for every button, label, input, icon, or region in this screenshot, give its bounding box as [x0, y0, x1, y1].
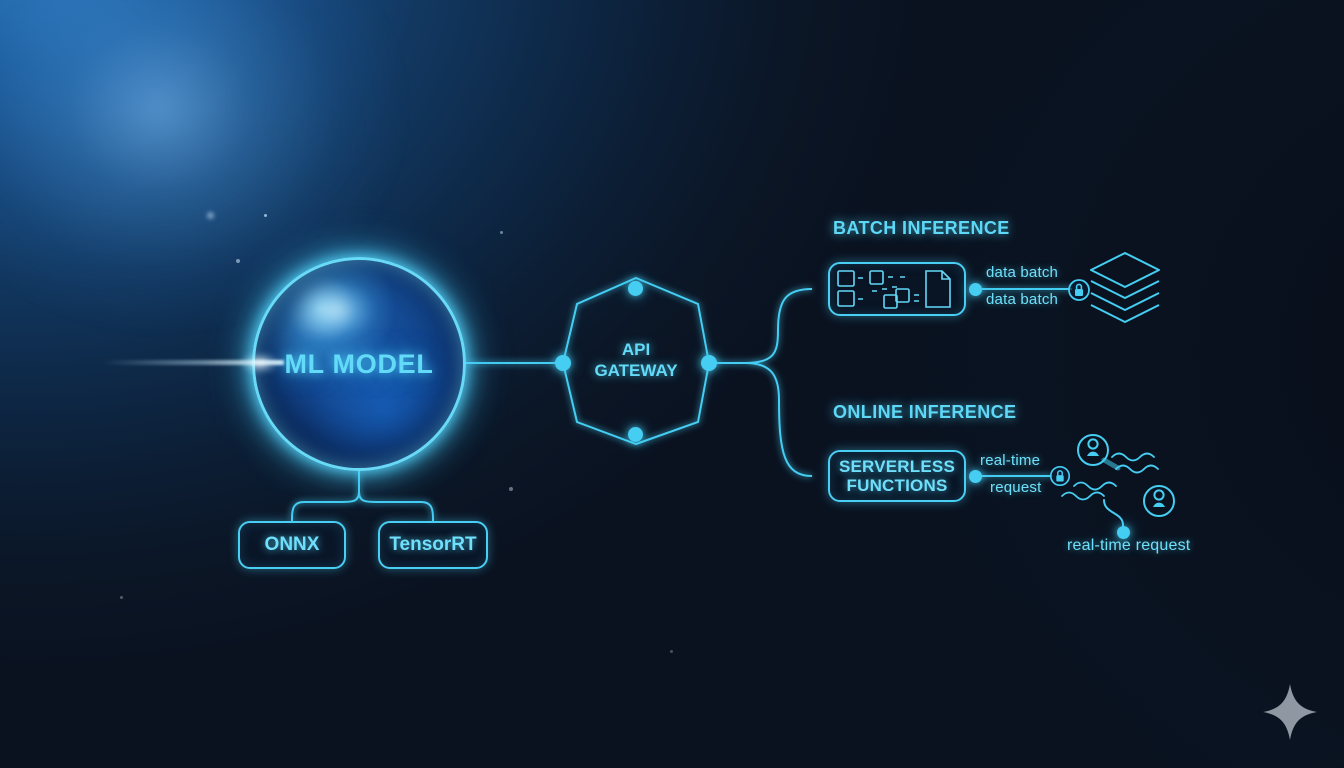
diagram-canvas: ML MODEL API GATEWAY ONNX TensorRT BATCH…	[0, 0, 1344, 768]
vignette-overlay	[0, 0, 1344, 768]
